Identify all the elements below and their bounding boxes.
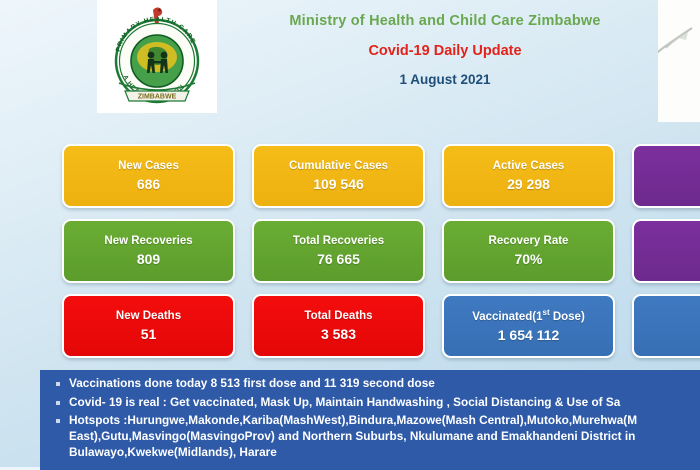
stat-card-active-cases[interactable]: Active Cases 29 298 <box>442 144 615 208</box>
stat-label: Recovery Rate <box>489 235 569 248</box>
corner-decoration-image <box>658 0 700 122</box>
stat-card-new-deaths[interactable]: New Deaths 51 <box>62 294 235 358</box>
stat-card-new-cases[interactable]: New Cases 686 <box>62 144 235 208</box>
note-item: Hotspots :Hurungwe,Makonde,Kariba(MashWe… <box>50 413 700 460</box>
stat-value: 76 665 <box>317 251 360 267</box>
note-item: Covid- 19 is real : Get vaccinated, Mask… <box>50 395 700 411</box>
stat-value: 809 <box>137 251 160 267</box>
stat-label: Vaccinated(1st Dose) <box>472 309 585 323</box>
stat-card-recovery-rate[interactable]: Recovery Rate 70% <box>442 219 615 283</box>
stat-value: 3 583 <box>321 326 356 342</box>
ministry-logo: PRIMARY HEALTH CARE A HEALTHY NATION ZIM… <box>97 0 217 113</box>
stat-card-total-recoveries[interactable]: Total Recoveries 76 665 <box>252 219 425 283</box>
stat-label: New Recoveries <box>104 235 192 248</box>
stat-value: 1 654 112 <box>498 327 560 343</box>
page-header: PRIMARY HEALTH CARE A HEALTHY NATION ZIM… <box>0 0 700 128</box>
bullet-icon <box>56 382 60 386</box>
note-item: Vaccinations done today 8 513 first dose… <box>50 376 700 392</box>
stats-grid: New Cases 686 Cumulative Cases 109 546 A… <box>62 144 700 369</box>
stat-card-new-recoveries[interactable]: New Recoveries 809 <box>62 219 235 283</box>
stat-label: New Cases <box>118 160 179 173</box>
page-title: Ministry of Health and Child Care Zimbab… <box>230 14 660 30</box>
note-text: Covid- 19 is real : Get vaccinated, Mask… <box>69 395 620 411</box>
stat-card-current-truncated[interactable]: Cur <box>632 219 700 283</box>
stat-label: Cumulative Cases <box>289 160 388 173</box>
stat-value: 70% <box>514 251 542 267</box>
note-text: Vaccinations done today 8 513 first dose… <box>69 376 435 392</box>
stat-card-cumulative-cases[interactable]: Cumulative Cases 109 546 <box>252 144 425 208</box>
stat-value: 109 546 <box>313 176 364 192</box>
bullet-icon <box>56 401 60 405</box>
bullet-icon <box>56 419 60 423</box>
note-text: Hotspots :Hurungwe,Makonde,Kariba(MashWe… <box>69 413 700 460</box>
stat-card-total-deaths[interactable]: Total Deaths 3 583 <box>252 294 425 358</box>
stats-row-recoveries: New Recoveries 809 Total Recoveries 76 6… <box>62 219 700 283</box>
stats-row-deaths-vaccination: New Deaths 51 Total Deaths 3 583 Vaccina… <box>62 294 700 358</box>
stat-card-total-tests-truncated[interactable]: Tot <box>632 144 700 208</box>
stat-label: Total Recoveries <box>293 235 384 248</box>
stat-label: Total Deaths <box>304 310 372 323</box>
notes-panel: Vaccinations done today 8 513 first dose… <box>40 370 700 470</box>
stat-value: 686 <box>137 176 160 192</box>
header-titles: Ministry of Health and Child Care Zimbab… <box>230 14 660 87</box>
emblem-icon: PRIMARY HEALTH CARE A HEALTHY NATION ZIM… <box>105 5 209 109</box>
page-subtitle: Covid-19 Daily Update <box>230 43 660 59</box>
stats-row-cases: New Cases 686 Cumulative Cases 109 546 A… <box>62 144 700 208</box>
stat-value: 51 <box>141 326 157 342</box>
stat-label: Active Cases <box>493 160 565 173</box>
report-date: 1 August 2021 <box>230 72 660 87</box>
stat-label: New Deaths <box>116 310 181 323</box>
stat-value: 29 298 <box>507 176 550 192</box>
stat-card-vaccinated-first-dose[interactable]: Vaccinated(1st Dose) 1 654 112 <box>442 294 615 358</box>
stat-card-vaccinated-second-dose-truncated[interactable]: Vacci <box>632 294 700 358</box>
svg-text:ZIMBABWE: ZIMBABWE <box>138 93 177 100</box>
